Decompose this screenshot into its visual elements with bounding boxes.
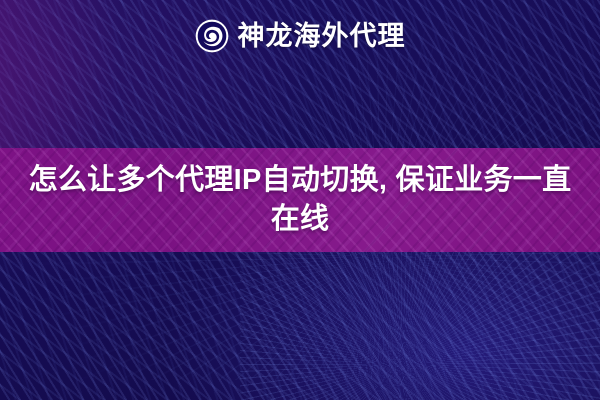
brand-logo: 神龙海外代理 [0,12,600,60]
promo-banner-card: 神龙海外代理 怎么让多个代理IP自动切换, 保证业务一直在线 [0,0,600,400]
brand-name: 神龙海外代理 [238,23,406,50]
page-title: 怎么让多个代理IP自动切换, 保证业务一直在线 [20,161,580,238]
swirl-circle-icon [195,19,229,53]
title-band: 怎么让多个代理IP自动切换, 保证业务一直在线 [0,148,600,252]
